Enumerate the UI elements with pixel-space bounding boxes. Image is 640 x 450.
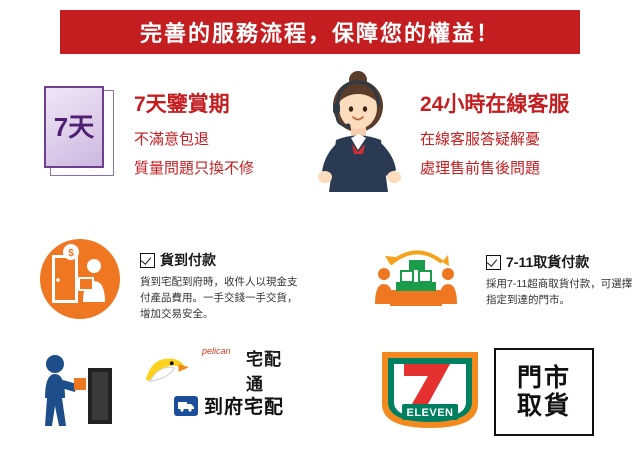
seven-eleven-word: ELEVEN <box>406 407 453 419</box>
delivery-person-icon <box>38 352 116 428</box>
store-pickup-heading-row: 7-11取貨付款 <box>486 252 636 272</box>
online-service-title: 24小時在線客服 <box>420 88 630 118</box>
store-pickup-text-block: 7-11取貨付款 採用7-11超商取貨付款，可選擇指定到達的門市。 <box>486 252 636 309</box>
seven-day-badge-text: 7天 <box>54 114 94 140</box>
check-box-icon <box>486 255 501 270</box>
cash-on-delivery-body: 貨到宅配到府時，收件人以現金支付產品費用。一手交錢一手交貨，增加交易安全。 <box>140 275 298 322</box>
truck-icon <box>174 396 198 416</box>
seven-eleven-logo-icon: ELEVEN <box>378 348 482 432</box>
store-pickup-badge: 門市 取貨 <box>494 348 594 436</box>
pelican-brand-en: pelican <box>202 346 231 356</box>
pelican-service-row: 到府宅配 <box>174 392 284 419</box>
pelican-brand-block: pelican 宅配通 到府宅配 <box>140 350 298 430</box>
pelican-bird-icon <box>140 350 190 390</box>
pelican-brand-cn: 宅配通 <box>246 345 298 395</box>
cash-on-delivery-heading: 貨到付款 <box>160 250 216 270</box>
cash-on-delivery-icon: $ <box>30 236 130 322</box>
cash-on-delivery-text-block: 貨到付款 貨到宅配到府時，收件人以現金支付產品費用。一手交錢一手交貨，增加交易安… <box>140 250 298 322</box>
customer-service-agent-icon <box>306 70 414 194</box>
seven-day-text-block: 7天鑒賞期 不滿意包退 質量問題只換不修 <box>134 88 324 186</box>
store-pickup-heading: 7-11取貨付款 <box>506 252 589 272</box>
cash-on-delivery-heading-row: 貨到付款 <box>140 250 298 270</box>
pelican-service-text: 到府宅配 <box>204 392 284 419</box>
online-service-line-2: 處理售前售後問題 <box>420 157 630 178</box>
svg-text:$: $ <box>68 248 74 259</box>
store-pickup-badge-line-1: 門市 <box>517 364 571 392</box>
check-box-icon <box>140 253 155 268</box>
online-service-line-1: 在線客服答疑解憂 <box>420 128 630 149</box>
store-pickup-icon <box>356 238 476 320</box>
online-service-text-block: 24小時在線客服 在線客服答疑解憂 處理售前售後問題 <box>420 88 630 186</box>
header-banner-text: 完善的服務流程，保障您的權益！ <box>140 16 500 48</box>
seven-day-line-1: 不滿意包退 <box>134 128 324 149</box>
seven-day-line-2: 質量問題只換不修 <box>134 157 324 178</box>
seven-day-badge-icon: 7天 <box>44 86 116 178</box>
seven-day-title: 7天鑒賞期 <box>134 88 324 118</box>
header-banner: 完善的服務流程，保障您的權益！ <box>60 10 580 54</box>
store-pickup-body: 採用7-11超商取貨付款，可選擇指定到達的門市。 <box>486 277 636 309</box>
pelican-logo-row: pelican 宅配通 <box>140 350 298 390</box>
store-pickup-badge-line-2: 取貨 <box>517 392 571 420</box>
